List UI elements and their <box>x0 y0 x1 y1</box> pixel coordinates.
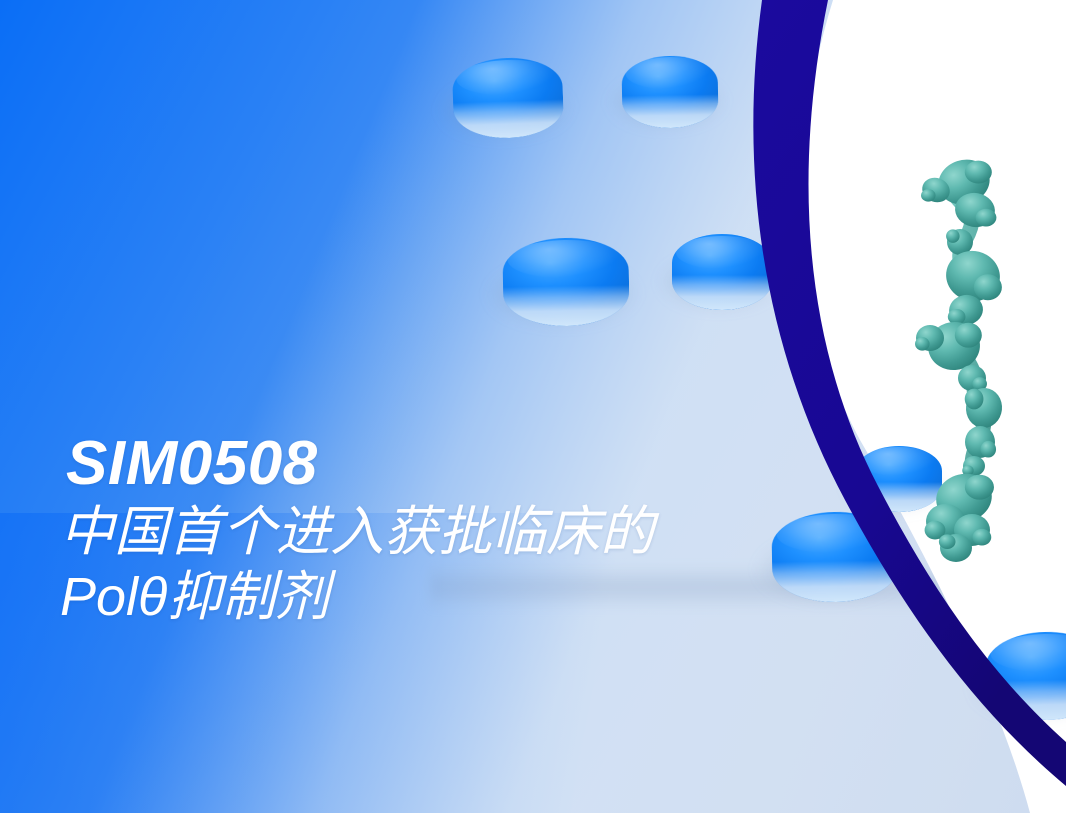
subtitle-line-2: Polθ抑制剂 <box>60 565 654 630</box>
headline-block: SIM0508 中国首个进入获批临床的 Polθ抑制剂 <box>60 432 654 630</box>
page-title: SIM0508 <box>66 432 654 496</box>
promo-poster: SIM0508 中国首个进入获批临床的 Polθ抑制剂 <box>0 0 1066 813</box>
navy-ring-arc <box>0 0 1066 813</box>
subtitle-line-1: 中国首个进入获批临床的 <box>60 500 654 565</box>
